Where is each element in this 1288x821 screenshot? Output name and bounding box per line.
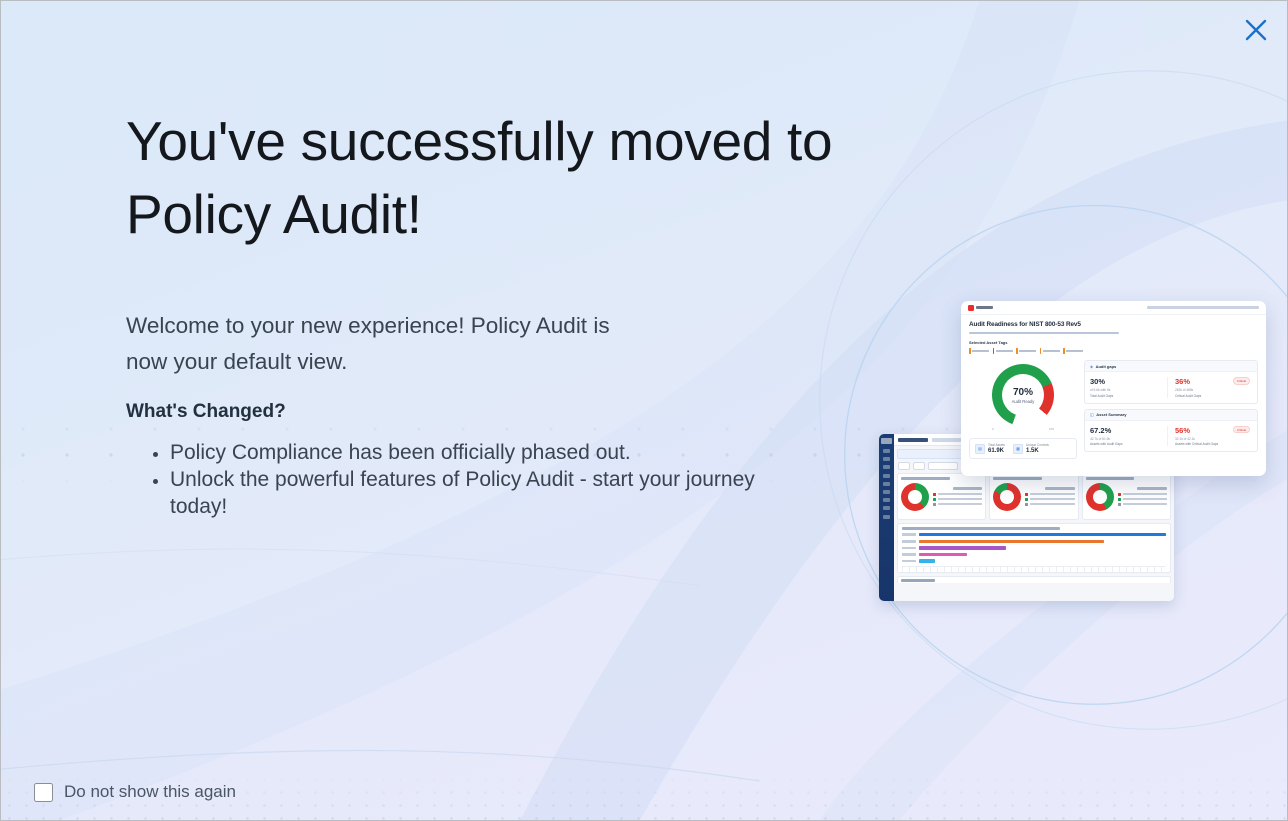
audit-gaps-panel: ◈ Audit gaps 30% of 5.6k with 6k Total A… [1084, 360, 1258, 404]
gap-icon: ◈ [1090, 364, 1093, 369]
compliance-by-measure-card [989, 473, 1078, 520]
panel-title: Audit gaps [1096, 364, 1117, 369]
asset-tags [969, 348, 1258, 354]
metric-note: Total Audit Gaps [1090, 394, 1163, 398]
welcome-message: Welcome to your new experience! Policy A… [126, 251, 726, 380]
donut-value [1086, 483, 1114, 511]
report-body: Audit Readiness for NIST 800-53 Rev5 Sel… [961, 315, 1266, 459]
chart-title [902, 527, 1060, 530]
stat-label: Unique Controls [1026, 443, 1049, 447]
unique-controls-stat: ▦ Unique Controls 1.5K [1013, 443, 1049, 454]
stat-value: 61.9K [988, 448, 1005, 454]
readiness-column: 70% Audit Ready 0 100 ▤ [969, 360, 1077, 459]
asset-tag [1040, 348, 1060, 354]
stat-value: 1.5K [1026, 448, 1049, 454]
asset-tag [1063, 348, 1083, 354]
posture-trend-panel [897, 576, 1171, 583]
close-icon [1243, 17, 1269, 43]
gauge-value: 70% [1013, 387, 1033, 398]
card-title [1086, 477, 1135, 480]
dialog-content: You've successfully moved to Policy Audi… [126, 105, 966, 520]
card-title [993, 477, 1042, 480]
status-badge: Critical [1233, 377, 1250, 385]
asset-tag [1016, 348, 1036, 354]
donut-value [993, 483, 1021, 511]
close-button[interactable] [1239, 13, 1273, 47]
metric-note: Assets with Audit Gaps [1090, 442, 1163, 446]
metric-value: 30% [1090, 377, 1163, 386]
metric-note: Critical Audit Gaps [1175, 394, 1248, 398]
panel-title [901, 579, 935, 582]
metric: 67.2% 42.7k of 61.9k Assets with Audit G… [1090, 426, 1167, 447]
asset-tag [969, 348, 989, 354]
whats-changed-heading: What's Changed? [126, 380, 966, 425]
metric-value: 67.2% [1090, 426, 1163, 435]
page-title: You've successfully moved to Policy Audi… [126, 105, 966, 251]
list-item: Unlock the powerful features of Policy A… [170, 466, 790, 520]
card-legend [1025, 487, 1074, 508]
bar [919, 546, 1006, 549]
misconfiguration-bar-chart [897, 523, 1171, 573]
metric-detail: 32.1k of 42.1k [1175, 437, 1248, 441]
controls-icon: ▦ [1013, 444, 1023, 454]
chart-axis [902, 566, 1166, 572]
compliance-by-os-card [1082, 473, 1171, 520]
panels-column: ◈ Audit gaps 30% of 5.6k with 6k Total A… [1084, 360, 1258, 459]
metric-detail: 262k of 486k [1175, 388, 1248, 392]
asset-icon: ◱ [1090, 412, 1094, 417]
status-badge: Critical [1233, 426, 1250, 434]
legend-total [1137, 487, 1167, 490]
policy-audit-welcome-dialog: You've successfully moved to Policy Audi… [0, 0, 1288, 821]
report-meta [1147, 306, 1259, 309]
brand-logo [968, 305, 993, 311]
asset-summary-panel: ◱ Asset Summary 67.2% 42.7k of 61.9k Ass… [1084, 409, 1258, 453]
changes-list: Policy Compliance has been officially ph… [126, 425, 790, 520]
bar [919, 540, 1104, 543]
bar [919, 533, 1166, 536]
metric-detail: 42.7k of 61.9k [1090, 437, 1163, 441]
asset-tags-label: Selected Asset Tags [969, 340, 1258, 345]
report-title: Audit Readiness for NIST 800-53 Rev5 [969, 321, 1258, 328]
stat-label: Total Assets [988, 443, 1005, 447]
metric: 30% of 5.6k with 6k Total Audit Gaps [1090, 377, 1167, 398]
report-subtitle [969, 332, 1119, 335]
gauge-min: 0 [992, 427, 994, 431]
list-item: Policy Compliance has been officially ph… [170, 439, 790, 466]
metric-note: Assets with Critical Audit Gaps [1175, 442, 1248, 446]
panel-title: Asset Summary [1096, 412, 1126, 417]
gauge-scale: 0 100 [992, 427, 1054, 431]
audit-readiness-report-preview: Audit Readiness for NIST 800-53 Rev5 Sel… [961, 301, 1266, 476]
metric: 56% 32.1k of 42.1k Assets with Critical … [1167, 426, 1252, 447]
logo-mark-icon [968, 305, 974, 311]
do-not-show-again-row[interactable]: Do not show this again [34, 782, 236, 802]
logo-wordmark [976, 306, 993, 309]
gauge-label: Audit Ready [1012, 399, 1035, 404]
do-not-show-again-label: Do not show this again [64, 782, 236, 802]
donut-chart [1086, 483, 1114, 511]
donut-chart [993, 483, 1021, 511]
asset-tag [993, 348, 1013, 354]
metric: 36% 262k of 486k Critical Audit Gaps Cri… [1167, 377, 1252, 398]
assets-icon: ▤ [975, 444, 985, 454]
legend-total [1045, 487, 1075, 490]
bar [919, 559, 935, 562]
audit-ready-gauge: 70% Audit Ready 0 100 [969, 360, 1077, 433]
bar [919, 553, 967, 556]
summary-stats: ▤ Total Assets 61.9K ▦ Unique Controls [969, 438, 1077, 459]
gauge-max: 100 [1049, 427, 1054, 431]
card-legend [1118, 487, 1167, 508]
report-header [961, 301, 1266, 315]
do-not-show-again-checkbox[interactable] [34, 783, 53, 802]
total-assets-stat: ▤ Total Assets 61.9K [975, 443, 1005, 454]
metric-detail: of 5.6k with 6k [1090, 388, 1163, 392]
